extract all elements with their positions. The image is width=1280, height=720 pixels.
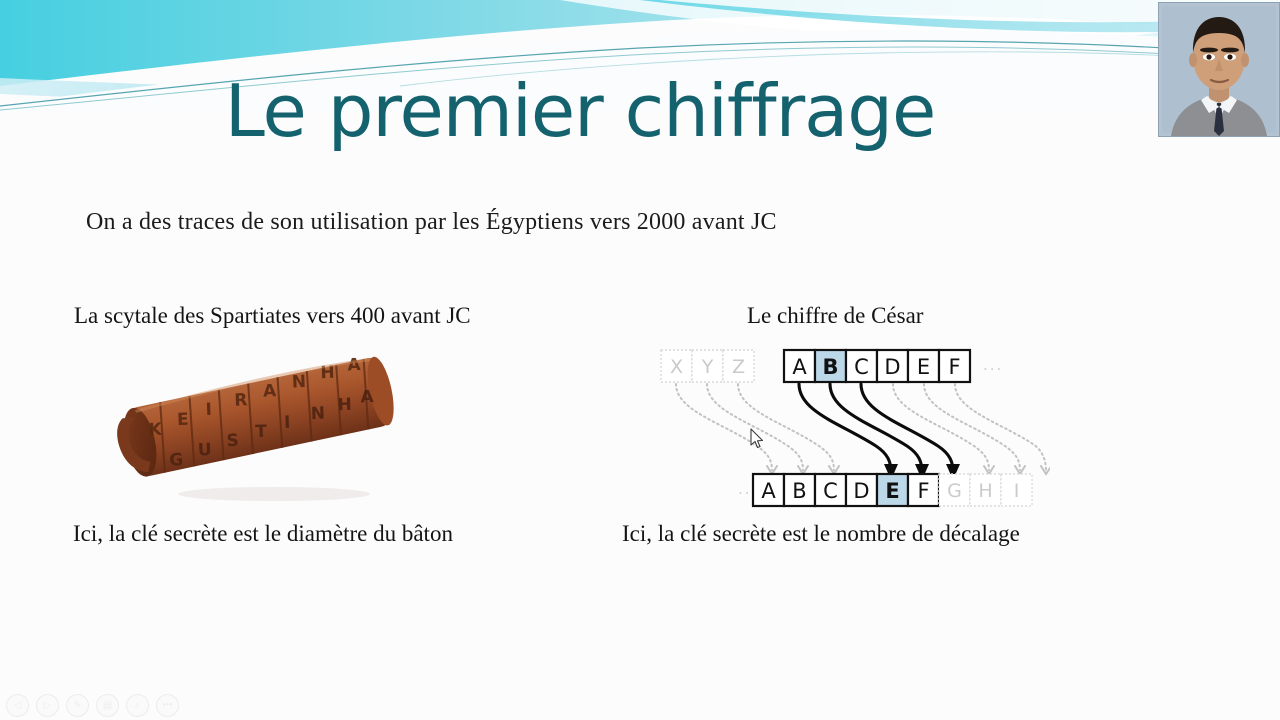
svg-text:X: X <box>670 356 683 378</box>
presentation-toolbar[interactable]: ◁ ▷ ✎ ▤ ⌕ ••• <box>6 694 179 717</box>
bottom-row-faded-cells: G H I <box>939 474 1032 506</box>
svg-text:G: G <box>947 480 962 502</box>
svg-text:F: F <box>917 479 929 503</box>
svg-text:A: A <box>792 355 807 379</box>
svg-text:B: B <box>822 355 838 379</box>
svg-text:R: R <box>234 390 248 410</box>
more-options-button[interactable]: ••• <box>156 694 179 717</box>
left-column-heading: La scytale des Spartiates vers 400 avant… <box>74 303 471 329</box>
scytale-photo: K E I R A N H A G U S T I N H <box>104 334 414 506</box>
svg-text:I: I <box>205 400 212 420</box>
svg-text:C: C <box>823 479 838 503</box>
svg-text:E: E <box>177 410 189 430</box>
svg-text:G: G <box>169 450 184 470</box>
svg-text:I: I <box>1014 480 1020 502</box>
svg-text:A: A <box>263 381 278 401</box>
previous-slide-button[interactable]: ◁ <box>6 694 29 717</box>
slide-title: Le premier chiffrage <box>0 68 1160 154</box>
svg-text:T: T <box>255 422 268 442</box>
bottom-row-cells: A B C D E F <box>753 474 939 506</box>
svg-text:Y: Y <box>701 356 714 378</box>
slide-overview-button[interactable]: ▤ <box>96 694 119 717</box>
right-column-heading: Le chiffre de César <box>747 303 923 329</box>
svg-text:A: A <box>347 355 362 375</box>
svg-text:B: B <box>792 479 806 503</box>
caesar-cipher-diagram: X Y Z A B C D E F ... <box>650 344 1050 516</box>
zoom-button[interactable]: ⌕ <box>126 694 149 717</box>
svg-text:...: ... <box>983 356 1003 374</box>
right-column-caption: Ici, la clé secrète est le nombre de déc… <box>622 521 1020 547</box>
svg-text:U: U <box>198 440 213 460</box>
svg-text:A: A <box>360 387 375 407</box>
mouse-pointer-icon <box>750 428 766 450</box>
presenter-webcam <box>1158 2 1280 137</box>
svg-text:F: F <box>948 355 960 379</box>
svg-text:S: S <box>226 431 239 451</box>
svg-text:N: N <box>291 372 306 392</box>
intro-text: On a des traces de son utilisation par l… <box>86 209 777 236</box>
svg-text:D: D <box>884 355 900 379</box>
svg-text:H: H <box>978 480 992 502</box>
svg-text:C: C <box>854 355 869 379</box>
svg-text:H: H <box>337 395 352 415</box>
top-row-cells: A B C D E F <box>784 350 970 382</box>
svg-text:Z: Z <box>732 356 745 378</box>
svg-text:E: E <box>917 355 930 379</box>
svg-text:N: N <box>310 404 325 424</box>
top-row-faded-cells: X Y Z <box>661 350 754 382</box>
next-slide-button[interactable]: ▷ <box>36 694 59 717</box>
pen-tool-button[interactable]: ✎ <box>66 694 89 717</box>
svg-text:K: K <box>148 420 163 440</box>
slide-canvas: Le premier chiffrage On a des traces de … <box>0 0 1280 720</box>
left-column-caption: Ici, la clé secrète est le diamètre du b… <box>73 521 453 547</box>
svg-text:I: I <box>284 413 291 433</box>
svg-text:A: A <box>761 479 776 503</box>
svg-text:E: E <box>885 479 899 503</box>
svg-text:D: D <box>853 479 869 503</box>
